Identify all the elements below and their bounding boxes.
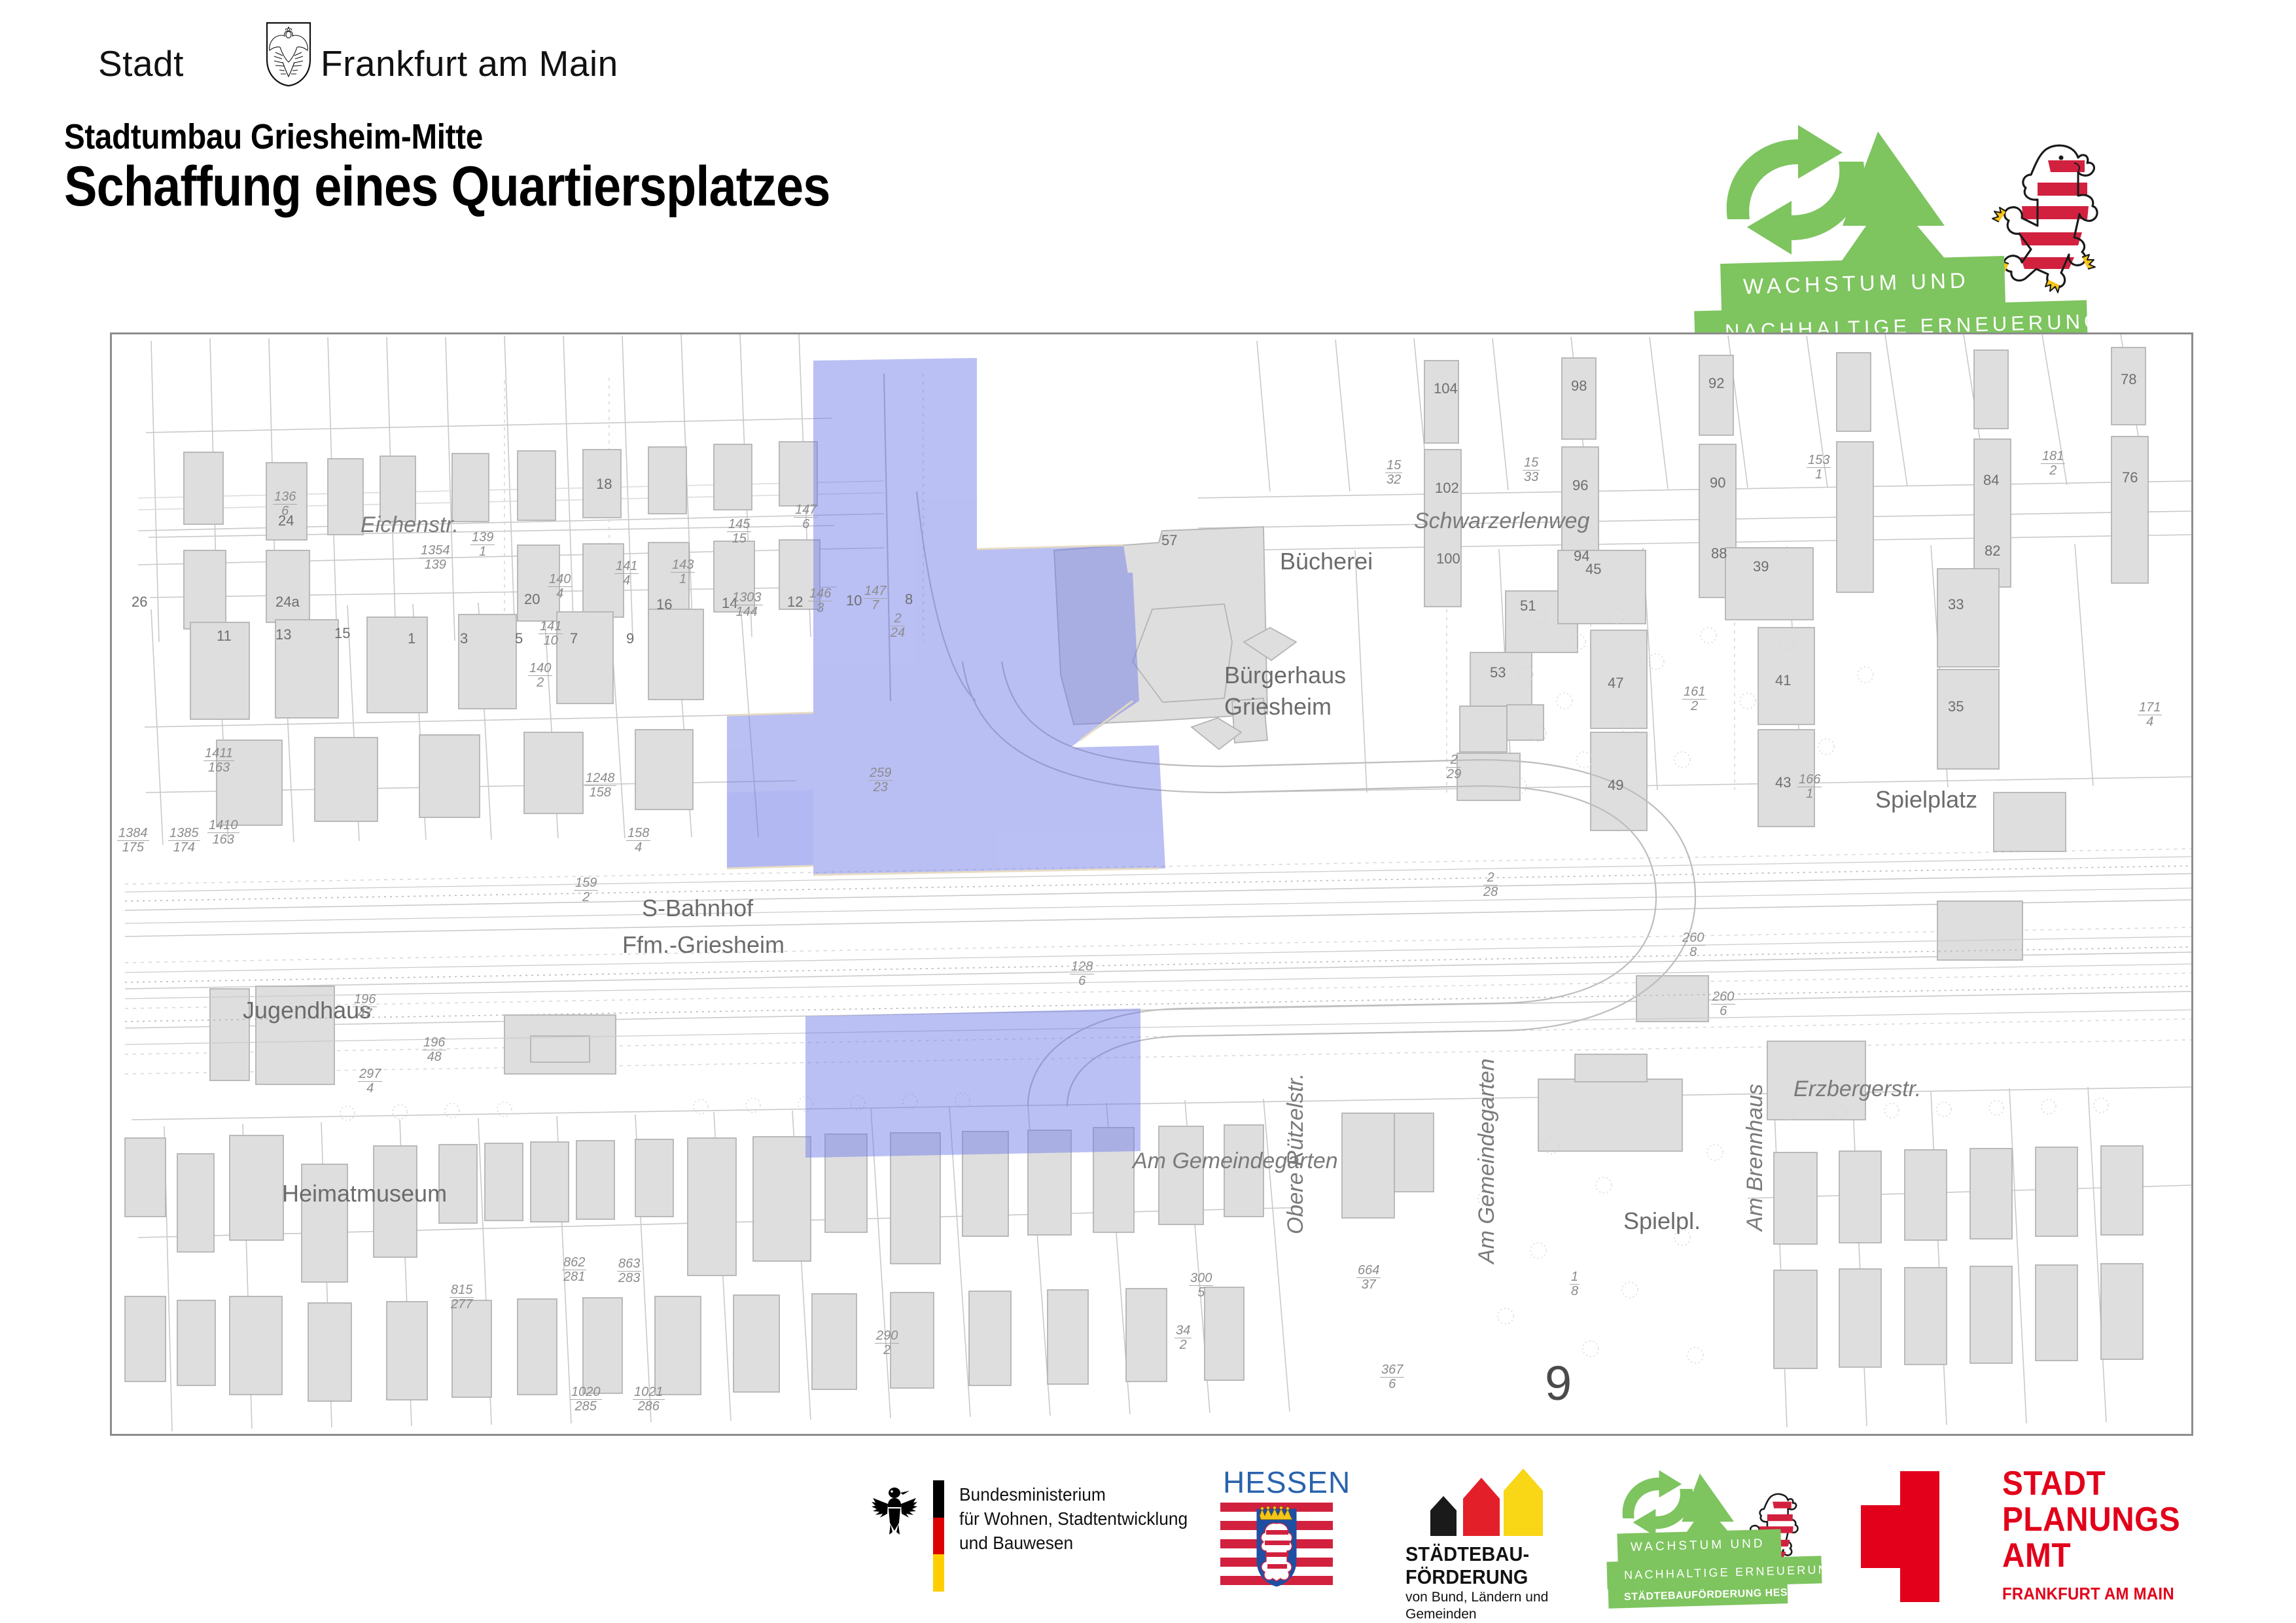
parcel-number: 1584	[626, 827, 650, 855]
parcel-number: 1391	[470, 531, 495, 559]
parcel-number: 19647	[353, 993, 377, 1021]
page-title: Schaffung eines Quartiersplatzes	[64, 154, 830, 219]
parcel-number: 229	[1447, 753, 1461, 781]
parcel-number: 25923	[868, 766, 892, 794]
house-number: 10	[846, 592, 862, 609]
page-header: Stadt Frankfurt am Main Stadtumbau Gries…	[0, 0, 2296, 327]
city-logo-word-stadt: Stadt	[98, 43, 184, 84]
parcel-number: 1812	[2041, 450, 2065, 478]
spa-line-1: STADT	[2002, 1466, 2180, 1502]
cadastral-map[interactable]: Eichenstr. Schwarzerlenweg Erzbergerstr.…	[110, 332, 2193, 1436]
house-number: 100	[1436, 550, 1460, 567]
parcel-number: 1714	[2138, 701, 2162, 729]
staedtebau-line-2: FÖRDERUNG	[1405, 1566, 1529, 1589]
staedtebau-title: STÄDTEBAU- FÖRDERUNG	[1405, 1543, 1529, 1588]
staedtebau-line-3: von Bund, Ländern und	[1405, 1589, 1548, 1606]
map-place-spielplatz: Spielplatz	[1875, 786, 1977, 813]
house-number: 11	[217, 628, 232, 645]
house-number: 102	[1435, 480, 1459, 497]
wachstum-banner-1: WACHSTUM UND	[1720, 256, 2005, 311]
map-street-schwarzerlenweg: Schwarzerlenweg	[1414, 508, 1589, 534]
parcel-number: 1021286	[633, 1385, 665, 1414]
parcel-number: 862281	[562, 1256, 586, 1284]
bundesministerium-text: Bundesministerium für Wohnen, Stadtentwi…	[959, 1483, 1188, 1556]
house-number: 43	[1775, 774, 1791, 791]
parcel-number: 1402	[528, 662, 552, 690]
house-number: 35	[1948, 698, 1964, 715]
house-number: 3	[460, 630, 468, 647]
spa-line-3: AMT	[2002, 1538, 2180, 1574]
parcel-number: 1533	[1523, 456, 1540, 484]
house-number: 88	[1711, 545, 1727, 562]
parcel-number: 1531	[1807, 454, 1831, 482]
parcel-number: 1303144	[731, 591, 763, 619]
wachstum-erneuerung-logo-small: WACHSTUM UND NACHHALTIGE ERNEUERUNG STÄD…	[1616, 1459, 1878, 1623]
parcel-number: 1410163	[207, 819, 239, 847]
house-number: 41	[1775, 672, 1791, 689]
parcel-number: 1414	[614, 560, 639, 588]
parcel-number: 1612	[1682, 685, 1706, 713]
parcel-number: 1431	[671, 558, 695, 586]
house-number: 5	[515, 630, 523, 647]
stadtplanungsamt-wordmark: STADT PLANUNGS AMT	[2002, 1466, 2180, 1574]
german-flag-bar-icon	[933, 1480, 944, 1592]
map-street-obere-ruetzelstr: Obere Rützelstr.	[1283, 1073, 1309, 1234]
parcel-number: 1592	[574, 876, 598, 904]
parcel-number: 224	[891, 612, 905, 640]
house-number: 1	[408, 630, 415, 647]
parcel-number: 1477	[863, 584, 887, 613]
bmwsb-line-2: für Wohnen, Stadtentwicklung	[959, 1507, 1188, 1531]
house-number: 51	[1520, 597, 1536, 615]
map-street-am-gemeindegarten-vert: Am Gemeindegarten	[1474, 1058, 1500, 1264]
map-place-griesheim: Griesheim	[1224, 693, 1332, 721]
house-number: 15	[334, 625, 350, 642]
parcel-number: 1385174	[168, 827, 200, 855]
parcel-number: 815277	[450, 1283, 474, 1311]
house-number: 7	[570, 630, 578, 647]
house-number: 39	[1753, 558, 1769, 575]
house-number: 104	[1434, 380, 1458, 397]
parcel-number: 3005	[1189, 1272, 1213, 1300]
parcel-number: 1366	[273, 490, 297, 518]
parcel-number: 2606	[1711, 990, 1735, 1018]
wachstum-small-banner-3: STÄDTEBAUFÖRDERUNG HESSEN	[1608, 1582, 1788, 1609]
footer-logo-bar: Bundesministerium für Wohnen, Stadtentwi…	[0, 1459, 2296, 1623]
bmwsb-line-3: und Bauwesen	[959, 1531, 1188, 1556]
spa-subtitle: FRANKFURT AM MAIN	[2002, 1584, 2174, 1604]
parcel-number: 1354139	[419, 544, 451, 572]
house-number: 26	[132, 594, 147, 611]
house-number: 92	[1708, 375, 1724, 392]
house-number: 18	[596, 476, 612, 493]
house-number: 12	[787, 594, 803, 611]
parcel-number: 1463	[808, 587, 832, 615]
parcel-number: 2974	[358, 1067, 382, 1096]
house-number: 8	[905, 591, 913, 608]
staedtebau-line-4: Gemeinden	[1405, 1606, 1548, 1623]
stadtplanungsamt-logo: STADT PLANUNGS AMT FRANKFURT AM MAIN	[1852, 1459, 2218, 1623]
map-drawing	[112, 334, 2191, 1434]
parcel-number: 1411163	[203, 747, 234, 775]
house-number: 16	[656, 596, 672, 613]
hessen-wordmark: HESSEN	[1223, 1465, 1351, 1500]
house-number: 9	[626, 630, 634, 647]
house-number: 98	[1571, 378, 1587, 395]
house-number: 53	[1490, 664, 1506, 681]
page-subtitle: Stadtumbau Griesheim-Mitte	[64, 116, 483, 157]
house-number: 76	[2122, 469, 2138, 486]
staedtebau-sub: von Bund, Ländern und Gemeinden	[1405, 1589, 1548, 1622]
city-logo: Stadt Frankfurt am Main	[98, 29, 517, 85]
house-number: 33	[1948, 596, 1964, 613]
parcel-number: 1476	[794, 503, 818, 531]
parcel-number: 863283	[617, 1257, 641, 1285]
parcel-number: 1384175	[117, 827, 149, 855]
map-place-buecherei: Bücherei	[1280, 548, 1373, 575]
map-place-ffm-griesheim: Ffm.-Griesheim	[622, 931, 785, 959]
house-number: 57	[1161, 532, 1177, 549]
staedtebau-line-1: STÄDTEBAU-	[1405, 1543, 1529, 1566]
house-number: 45	[1585, 561, 1601, 578]
parcel-number: 3676	[1380, 1363, 1404, 1391]
parcel-number: 1532	[1385, 459, 1402, 487]
spa-line-2: PLANUNGS	[2002, 1502, 2180, 1538]
parcel-number: 1286	[1070, 960, 1094, 988]
parcel-number: 14515	[727, 518, 751, 546]
map-place-buergerhaus: Bürgerhaus	[1224, 662, 1346, 689]
house-number: 13	[275, 626, 291, 643]
house-number: 84	[1983, 472, 1999, 489]
parcel-number: 1404	[548, 573, 572, 601]
bundesadler-icon	[870, 1482, 919, 1541]
three-houses-icon	[1426, 1467, 1544, 1536]
map-place-heimatmuseum: Heimatmuseum	[282, 1180, 447, 1207]
parcel-number: 2902	[875, 1329, 899, 1357]
bmwsb-line-1: Bundesministerium	[959, 1483, 1188, 1507]
house-number: 47	[1608, 675, 1623, 692]
map-street-am-brennhaus: Am Brennhaus	[1742, 1084, 1768, 1231]
bundesministerium-logo: Bundesministerium für Wohnen, Stadtentwi…	[870, 1459, 1237, 1623]
house-number: 82	[1985, 543, 2000, 560]
house-number: 96	[1572, 477, 1588, 494]
parcel-number: 66437	[1356, 1264, 1381, 1292]
parcel-number: 1248158	[584, 772, 616, 800]
house-number: 49	[1608, 777, 1623, 794]
hessen-coat-of-arms-icon	[1220, 1500, 1333, 1592]
parcel-number: 14110	[539, 620, 563, 648]
stadtplanungsamt-block-icon	[1852, 1471, 1976, 1602]
parcel-number: 1661	[1797, 773, 1822, 801]
parcel-number: 342	[1174, 1324, 1192, 1352]
map-big-label: 9	[1545, 1355, 1572, 1411]
map-place-jugendhaus: Jugendhaus	[243, 997, 371, 1024]
city-logo-word-frankfurt: Frankfurt am Main	[321, 43, 618, 84]
parcel-number: 1020285	[570, 1385, 602, 1414]
house-number: 78	[2121, 371, 2136, 388]
map-place-spielpl: Spielpl.	[1623, 1207, 1701, 1235]
hessen-logo: HESSEN	[1214, 1459, 1345, 1623]
house-number: 20	[524, 591, 540, 608]
house-number: 90	[1710, 474, 1725, 491]
frankfurt-eagle-crest-icon	[265, 22, 312, 87]
house-number: 24a	[275, 594, 300, 611]
parcel-number: 2608	[1681, 931, 1705, 959]
parcel-number: 228	[1483, 871, 1498, 899]
parcel-number: 19648	[422, 1036, 446, 1064]
map-street-eichenstr: Eichenstr.	[361, 512, 459, 538]
map-place-s-bahnhof: S-Bahnhof	[642, 895, 753, 922]
parcel-number: 18	[1570, 1270, 1580, 1298]
map-street-erzbergerstr: Erzbergerstr.	[1793, 1077, 1921, 1102]
